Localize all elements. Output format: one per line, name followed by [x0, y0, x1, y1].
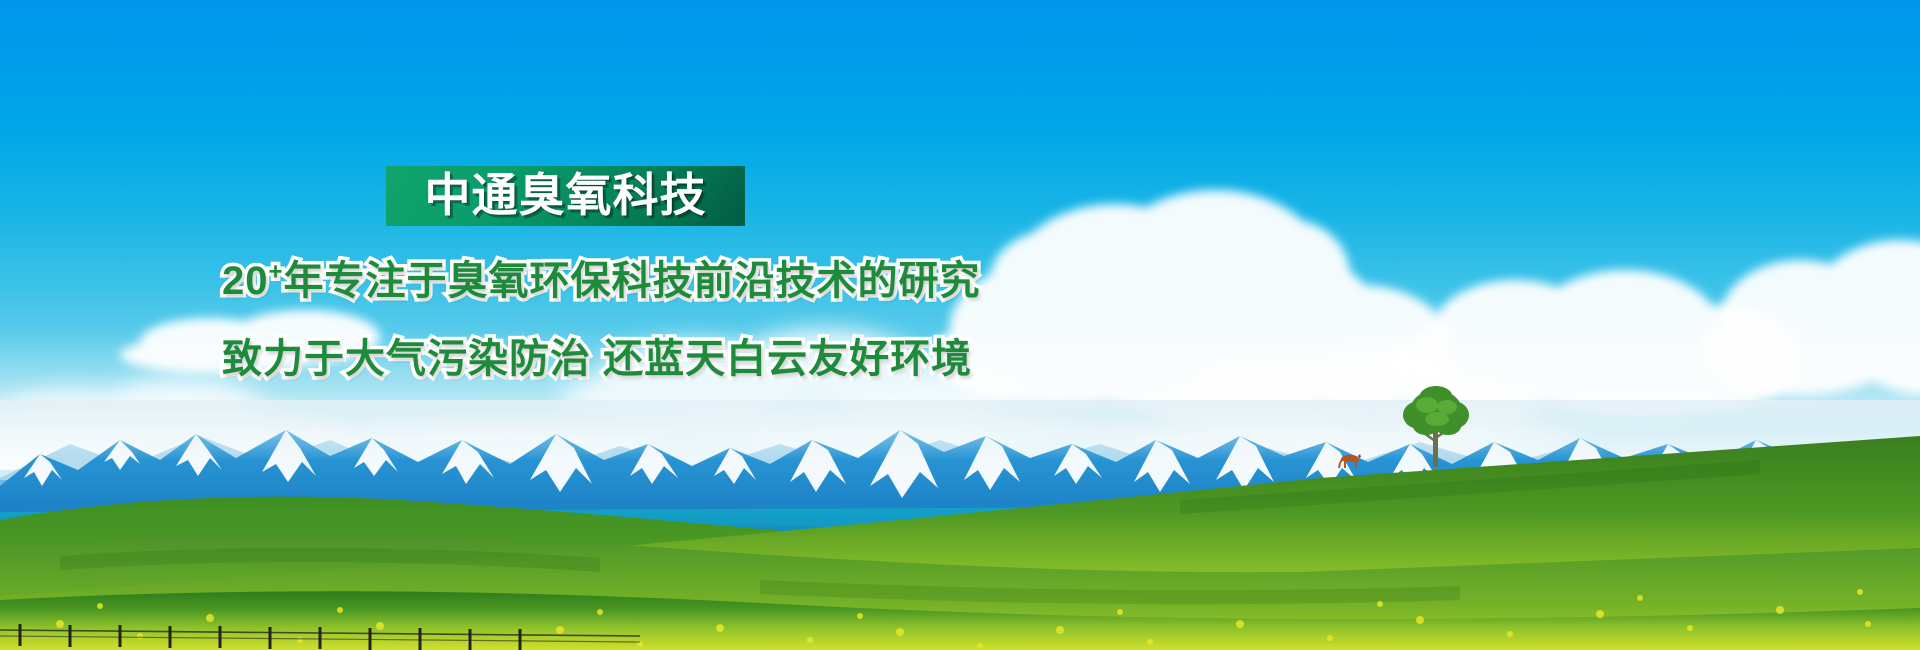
tagline-line-2: 致力于大气污染防治 还蓝天白云友好环境 — [222, 339, 972, 379]
lone-tree — [1393, 385, 1479, 467]
brand-title-badge[interactable]: 中通臭氧科技 — [386, 166, 745, 226]
tagline-line-1: 20+年专注于臭氧环保科技前沿技术的研究 — [222, 261, 981, 301]
tagline-plus-superscript: + — [269, 259, 284, 286]
tagline-years-number: 20 — [222, 259, 269, 303]
tagline-line-1-rest: 年专注于臭氧环保科技前沿技术的研究 — [284, 259, 981, 303]
wire-fence — [0, 620, 640, 650]
grazing-horse — [1337, 452, 1363, 470]
hero-banner: 中通臭氧科技 20+年专注于臭氧环保科技前沿技术的研究 致力于大气污染防治 还蓝… — [0, 0, 1920, 650]
meadow-ground — [0, 0, 1920, 650]
brand-title: 中通臭氧科技 — [425, 172, 707, 220]
